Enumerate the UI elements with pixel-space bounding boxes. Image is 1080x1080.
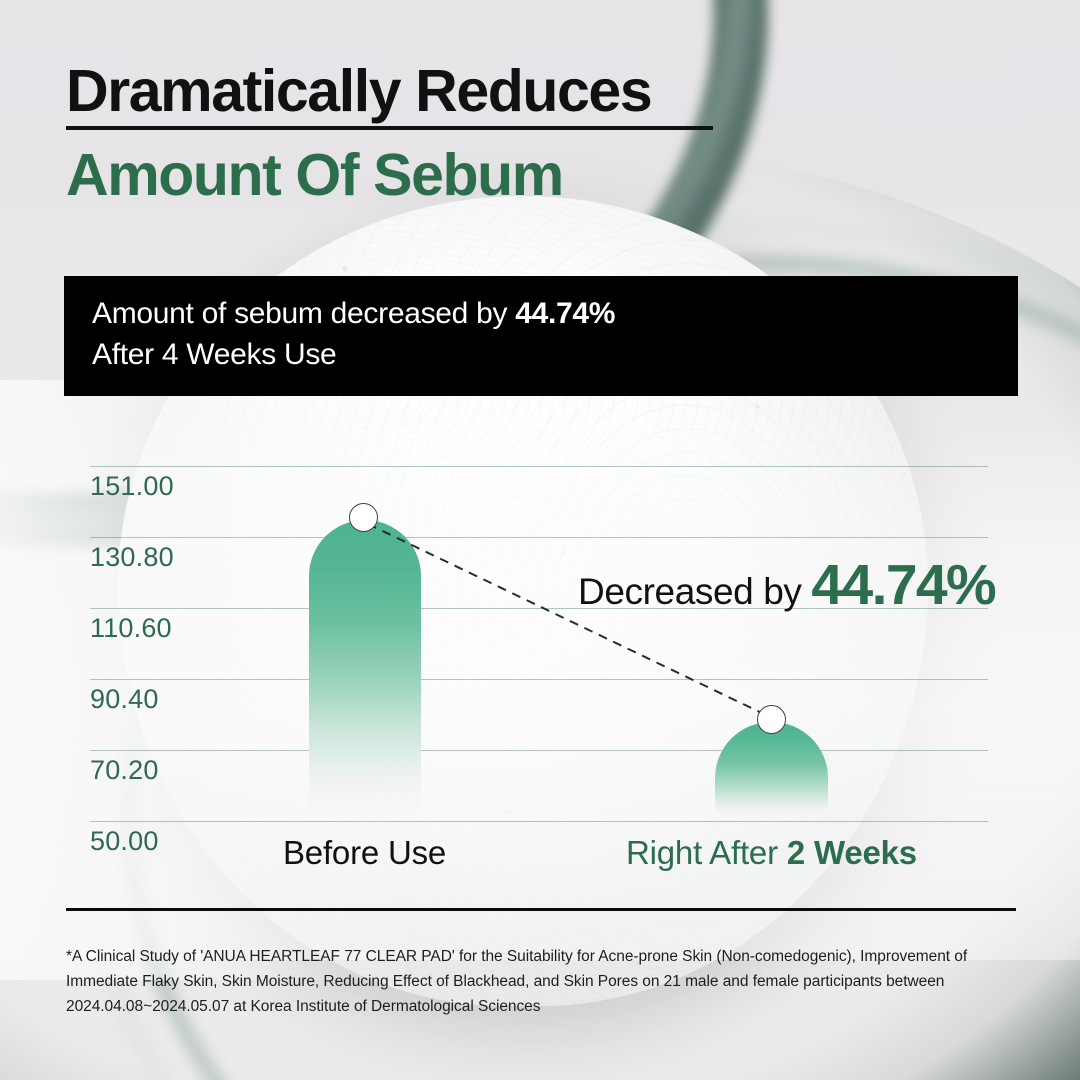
x-axis-label-right-after-2-weeks: Right After 2 Weeks [626, 834, 917, 872]
bar-before-use-fill [309, 520, 421, 820]
trend-connector-line [0, 0, 1080, 1080]
clinical-study-footnote: *A Clinical Study of 'ANUA HEARTLEAF 77 … [66, 944, 1018, 1019]
x-axis-label-after-bold: 2 Weeks [787, 834, 917, 871]
gridline [90, 750, 988, 751]
bar-right-after-2-weeks-fill [715, 722, 828, 820]
decrease-callout-value: 44.74% [811, 553, 995, 617]
sebum-bar-chart: 151.00 130.80 110.60 90.40 70.20 50.00 B… [0, 0, 1080, 1080]
x-axis-label-before-use: Before Use [283, 834, 446, 872]
gridline [90, 679, 988, 680]
y-axis-tick-label: 90.40 [90, 684, 159, 715]
x-axis-label-after-normal: Right After [626, 834, 787, 871]
data-point-marker-before-use [349, 503, 378, 532]
y-axis-tick-label: 70.20 [90, 755, 159, 786]
y-axis-tick-label: 50.00 [90, 826, 159, 857]
decrease-callout: Decreased by 44.74% [578, 552, 995, 618]
gridline [90, 537, 988, 538]
gridline [90, 466, 988, 467]
y-axis-tick-label: 151.00 [90, 471, 174, 502]
bar-before-use [309, 520, 421, 820]
footer-divider [66, 908, 1016, 911]
y-axis-tick-label: 110.60 [90, 613, 172, 644]
decrease-callout-prefix: Decreased by [578, 571, 811, 612]
bar-right-after-2-weeks [715, 722, 828, 820]
data-point-marker-right-after-2-weeks [757, 705, 786, 734]
y-axis-tick-label: 130.80 [90, 542, 174, 573]
gridline [90, 821, 988, 822]
